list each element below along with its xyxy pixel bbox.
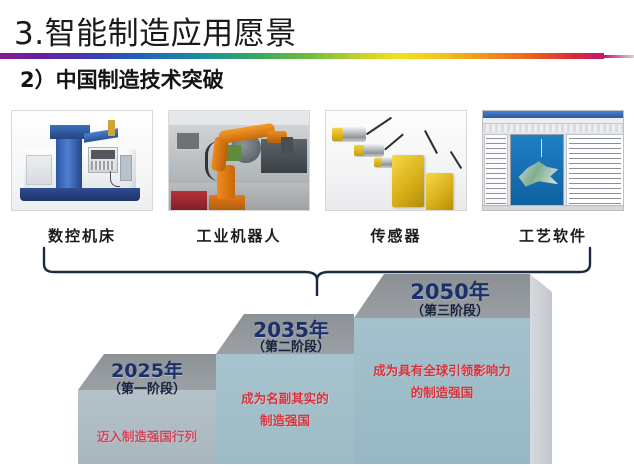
- stair-step-2025: 2025年 （第一阶段） 迈入制造强国行列: [78, 354, 216, 464]
- step-phase-2035: （第二阶段）: [222, 336, 360, 355]
- step-body-2050: 成为具有全球引领影响力 的制造强国: [354, 360, 530, 404]
- step-phase-2050: （第三阶段）: [362, 300, 538, 319]
- cad-software-photo: [482, 110, 624, 211]
- cnc-machine-photo: [11, 110, 153, 211]
- industrial-robot-photo: [168, 110, 310, 211]
- gradient-divider-tail: [604, 55, 634, 58]
- step-body-2025: 迈入制造强国行列: [78, 426, 216, 448]
- slide-root: 3.智能制造应用愿景 2）中国制造技术突破: [0, 0, 634, 475]
- photo-caption-software: 工艺软件: [473, 225, 633, 246]
- roadmap-staircase: 2025年 （第一阶段） 迈入制造强国行列 2035年 （第二阶段） 成为名副其…: [0, 288, 634, 475]
- photo-strip: [0, 110, 634, 215]
- photo-caption-sensor: 传感器: [316, 225, 476, 246]
- step-phase-2025: （第一阶段）: [78, 378, 216, 397]
- step-body-2035: 成为名副其实的 制造强国: [216, 388, 354, 432]
- gradient-divider: [0, 53, 604, 59]
- section-subtitle: 2）中国制造技术突破: [20, 64, 224, 94]
- photo-caption-cnc: 数控机床: [2, 225, 162, 246]
- page-title: 3.智能制造应用愿景: [14, 8, 297, 53]
- stair-step-2035: 2035年 （第二阶段） 成为名副其实的 制造强国: [216, 314, 354, 464]
- sensor-photo: [325, 110, 467, 211]
- photo-caption-robot: 工业机器人: [159, 225, 319, 246]
- stair-step-2050: 2050年 （第三阶段） 成为具有全球引领影响力 的制造强国: [354, 274, 530, 464]
